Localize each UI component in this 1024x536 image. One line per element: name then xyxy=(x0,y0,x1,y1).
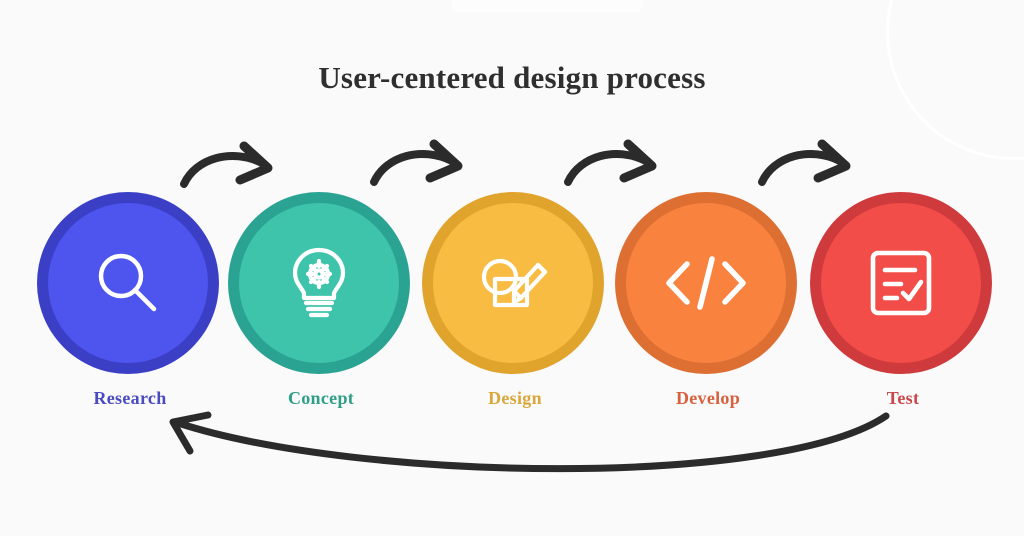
process-diagram: User-centered design process xyxy=(0,0,1024,536)
step-circle[interactable] xyxy=(37,192,219,374)
step-circle[interactable] xyxy=(228,192,410,374)
checklist-icon xyxy=(859,241,943,325)
step-research[interactable]: Research xyxy=(37,192,223,409)
step-label: Test xyxy=(810,388,996,409)
step-circle[interactable] xyxy=(615,192,797,374)
lightbulb-gear-icon xyxy=(277,241,361,325)
step-develop[interactable]: Develop xyxy=(615,192,801,409)
step-label: Design xyxy=(422,388,608,409)
step-circle[interactable] xyxy=(810,192,992,374)
step-test[interactable]: Test xyxy=(810,192,996,409)
magnifier-icon xyxy=(88,243,168,323)
step-concept[interactable]: Concept xyxy=(228,192,414,409)
step-label: Concept xyxy=(228,388,414,409)
step-design[interactable]: Design xyxy=(422,192,608,409)
pencil-shapes-icon xyxy=(469,239,557,327)
step-label: Research xyxy=(37,388,223,409)
code-brackets-icon xyxy=(658,247,754,319)
step-label: Develop xyxy=(615,388,801,409)
steps-group: Research Concept xyxy=(0,0,1024,536)
step-circle[interactable] xyxy=(422,192,604,374)
